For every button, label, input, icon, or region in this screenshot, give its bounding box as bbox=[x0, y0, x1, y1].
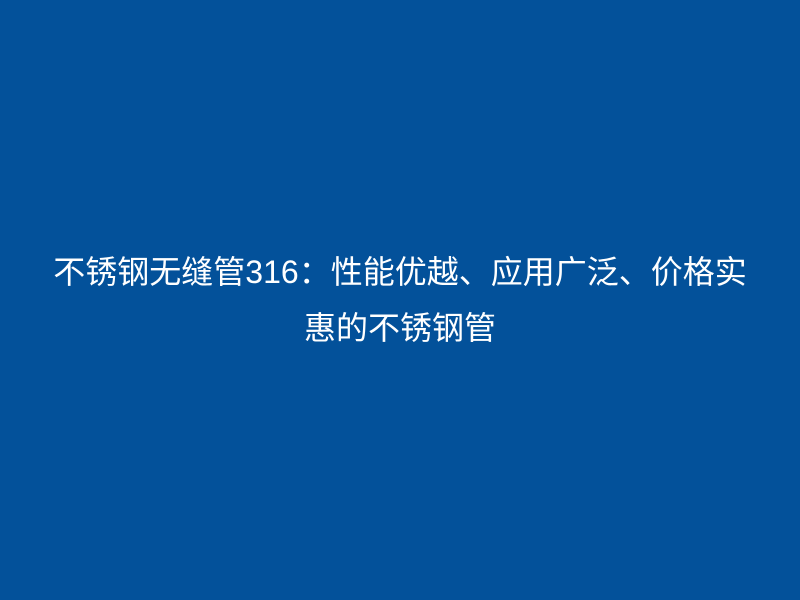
banner-canvas: 不锈钢无缝管316：性能优越、应用广泛、价格实惠的不锈钢管 bbox=[0, 0, 800, 600]
headline-block: 不锈钢无缝管316：性能优越、应用广泛、价格实惠的不锈钢管 bbox=[50, 244, 750, 356]
page-title: 不锈钢无缝管316：性能优越、应用广泛、价格实惠的不锈钢管 bbox=[50, 244, 750, 356]
